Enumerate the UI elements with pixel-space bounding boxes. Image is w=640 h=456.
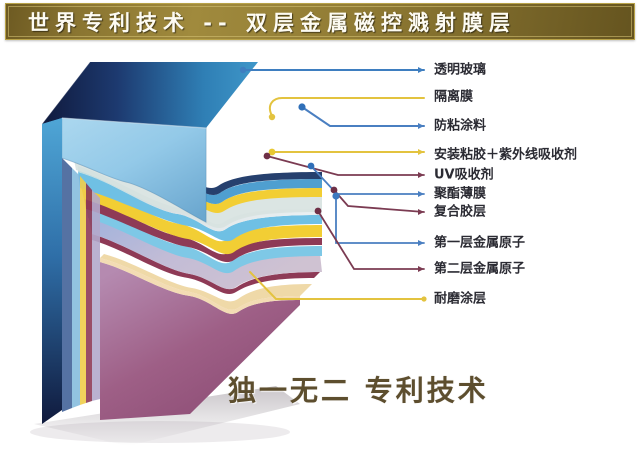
footer-slogan: 独一无二 专利技术 [228,369,489,409]
leader-composite-adhesive [331,187,424,215]
leader-anti-stick-coating [298,103,424,129]
label-polyester-film: 聚酯薄膜 [434,188,486,201]
leader-metal-layer-2 [315,208,424,272]
label-adhesive-uv: 安装粘胶＋紫外线吸收剂 [434,149,577,162]
label-wear-resistant-coat: 耐磨涂层 [434,293,486,306]
leader-polyester-film [308,163,424,197]
leader-isolation-film [269,98,424,120]
label-metal-layer-1: 第一层金属原子 [434,237,525,250]
label-isolation-film: 隔离膜 [434,91,473,104]
label-uv-absorber: UV吸收剂 [434,169,494,182]
label-metal-layer-2: 第二层金属原子 [434,263,525,276]
left-edge-layer-slices [62,158,100,412]
label-composite-adhesive: 复合胶层 [434,206,486,219]
label-anti-stick-coating: 防粘涂料 [434,120,486,133]
diagram-canvas: 世界专利技术 -- 双层金属磁控溅射膜层 [0,0,640,456]
label-transparent-glass: 透明玻璃 [434,64,486,77]
leader-adhesive-uv [269,128,424,155]
leader-metal-layer-1 [332,192,424,246]
leader-transparent-glass [240,67,424,73]
